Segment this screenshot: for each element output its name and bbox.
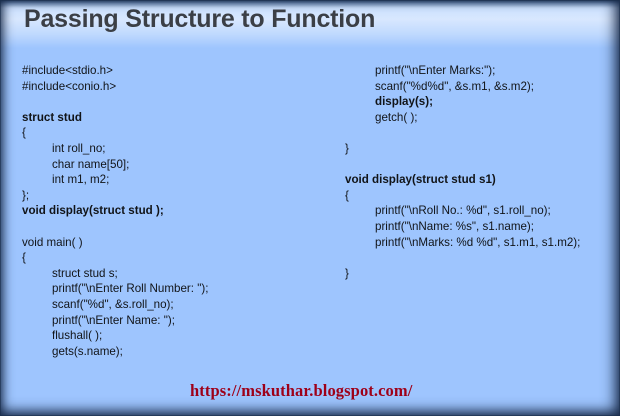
right_column-line: printf("\nRoll No.: %d", s1.roll_no); <box>345 203 580 219</box>
code-column-left: #include<stdio.h>#include<conio.h> struc… <box>22 63 208 359</box>
left_column-line: gets(s.name); <box>22 344 208 360</box>
page-title: Passing Structure to Function <box>24 5 375 34</box>
left_column-line: printf("\nEnter Roll Number: "); <box>22 281 208 297</box>
left_column-line: #include<stdio.h> <box>22 63 208 79</box>
right_column-line: { <box>345 188 580 204</box>
left_column-line: flushall( ); <box>22 328 208 344</box>
code-column-right: printf("\nEnter Marks:");scanf("%d%d", &… <box>345 63 580 281</box>
left_column-line: int roll_no; <box>22 141 208 157</box>
right_column-line: } <box>345 141 580 157</box>
left_column-line: printf("\nEnter Name: "); <box>22 313 208 329</box>
left_column-line <box>22 94 208 110</box>
right_column-line: printf("\nName: %s", s1.name); <box>345 219 580 235</box>
left_column-line: int m1, m2; <box>22 172 208 188</box>
right_column-line: scanf("%d%d", &s.m1, &s.m2); <box>345 79 580 95</box>
right_column-line: void display(struct stud s1) <box>345 172 580 188</box>
left_column-line: }; <box>22 188 208 204</box>
presentation-slide: Passing Structure to Function #include<s… <box>0 0 620 416</box>
watermark-url: https://mskuthar.blogspot.com/ <box>190 381 412 401</box>
left_column-line: void main( ) <box>22 235 208 251</box>
left_column-line: void display(struct stud ); <box>22 203 208 219</box>
right_column-line: display(s); <box>345 94 580 110</box>
left_column-line: { <box>22 250 208 266</box>
right_column-line: } <box>345 266 580 282</box>
left_column-line: { <box>22 125 208 141</box>
right_column-line <box>345 125 580 141</box>
right_column-line: getch( ); <box>345 110 580 126</box>
left_column-line: struct stud s; <box>22 266 208 282</box>
right_column-line: printf("\nEnter Marks:"); <box>345 63 580 79</box>
left_column-line <box>22 219 208 235</box>
left_column-line: struct stud <box>22 110 208 126</box>
left_column-line: scanf("%d", &s.roll_no); <box>22 297 208 313</box>
right_column-line <box>345 157 580 173</box>
right_column-line <box>345 250 580 266</box>
right_column-line: printf("\nMarks: %d %d", s1.m1, s1.m2); <box>345 235 580 251</box>
left_column-line: char name[50]; <box>22 157 208 173</box>
left_column-line: #include<conio.h> <box>22 79 208 95</box>
